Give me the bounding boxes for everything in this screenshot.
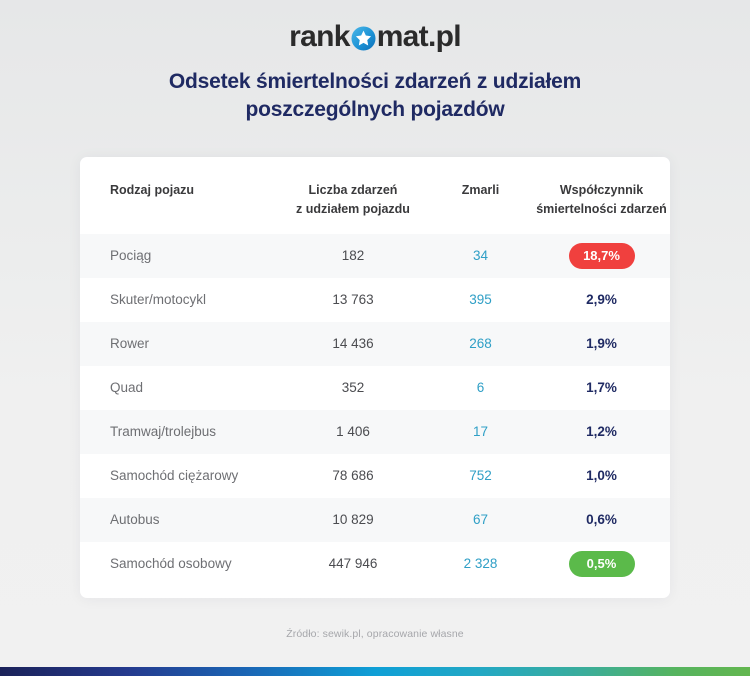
table-row: Rower14 4362681,9% <box>80 322 670 366</box>
cell-incident-count: 78 686 <box>278 469 428 483</box>
table-row: Pociąg1823418,7% <box>80 234 670 278</box>
fatality-rate-value: 1,7% <box>586 380 617 395</box>
cell-deaths: 67 <box>428 513 533 527</box>
cell-fatality-rate: 0,5% <box>533 551 670 577</box>
table-row: Samochód osobowy447 9462 3280,5% <box>80 542 670 586</box>
stats-table-card: Rodzaj pojazu Liczba zdarzeń z udziałem … <box>80 157 670 597</box>
cell-fatality-rate: 1,0% <box>533 467 670 485</box>
cell-incident-count: 10 829 <box>278 513 428 527</box>
cell-deaths: 34 <box>428 249 533 263</box>
brand-logo: rank mat.pl <box>289 20 461 54</box>
logo-text-before: rank <box>289 22 350 52</box>
cell-vehicle-type: Samochód ciężarowy <box>80 469 278 483</box>
cell-deaths: 395 <box>428 293 533 307</box>
fatality-rate-value: 1,0% <box>586 468 617 483</box>
table-row: Samochód ciężarowy78 6867521,0% <box>80 454 670 498</box>
table-row: Quad35261,7% <box>80 366 670 410</box>
cell-deaths: 268 <box>428 337 533 351</box>
infographic-page: rank mat.pl Odsetek śmiertel <box>0 0 750 676</box>
cell-vehicle-type: Quad <box>80 381 278 395</box>
cell-deaths: 2 328 <box>428 557 533 571</box>
cell-vehicle-type: Rower <box>80 337 278 351</box>
column-header-incident-count: Liczba zdarzeń z udziałem pojazdu <box>278 181 428 217</box>
fatality-rate-value: 1,2% <box>586 424 617 439</box>
cell-incident-count: 14 436 <box>278 337 428 351</box>
cell-incident-count: 182 <box>278 249 428 263</box>
table-row: Skuter/motocykl13 7633952,9% <box>80 278 670 322</box>
cell-fatality-rate: 2,9% <box>533 291 670 309</box>
page-title-line-1: Odsetek śmiertelności zdarzeń z udziałem <box>169 70 581 93</box>
fatality-rate-value: 2,9% <box>586 292 617 307</box>
logo-text-after: mat.pl <box>377 22 461 52</box>
fatality-rate-value: 0,6% <box>586 512 617 527</box>
page-title: Odsetek śmiertelności zdarzeń z udziałem… <box>95 68 655 123</box>
table-header-row: Rodzaj pojazu Liczba zdarzeń z udziałem … <box>80 157 670 233</box>
source-note: Źródło: sewik.pl, opracowanie własne <box>286 628 464 640</box>
cell-vehicle-type: Skuter/motocykl <box>80 293 278 307</box>
cell-fatality-rate: 1,2% <box>533 423 670 441</box>
page-title-line-2: poszczególnych pojazdów <box>245 98 504 121</box>
table-row: Tramwaj/trolejbus1 406171,2% <box>80 410 670 454</box>
logo-text: rank mat.pl <box>289 22 461 52</box>
cell-incident-count: 447 946 <box>278 557 428 571</box>
cell-deaths: 752 <box>428 469 533 483</box>
bottom-gradient-bar <box>0 667 750 676</box>
status-badge-highest: 18,7% <box>569 243 635 269</box>
cell-deaths: 17 <box>428 425 533 439</box>
cell-vehicle-type: Autobus <box>80 513 278 527</box>
star-circle-icon <box>351 26 376 51</box>
cell-vehicle-type: Tramwaj/trolejbus <box>80 425 278 439</box>
table-body: Pociąg1823418,7%Skuter/motocykl13 763395… <box>80 234 670 598</box>
cell-fatality-rate: 0,6% <box>533 511 670 529</box>
cell-fatality-rate: 18,7% <box>533 243 670 269</box>
table-row: Autobus10 829670,6% <box>80 498 670 542</box>
column-header-fatality-rate: Współczynnik śmiertelności zdarzeń <box>533 181 670 217</box>
cell-vehicle-type: Samochód osobowy <box>80 557 278 571</box>
column-header-vehicle-type: Rodzaj pojazu <box>80 181 278 199</box>
cell-fatality-rate: 1,9% <box>533 335 670 353</box>
cell-deaths: 6 <box>428 381 533 395</box>
status-badge-lowest: 0,5% <box>569 551 635 577</box>
cell-incident-count: 13 763 <box>278 293 428 307</box>
cell-incident-count: 1 406 <box>278 425 428 439</box>
column-header-deaths: Zmarli <box>428 181 533 199</box>
cell-vehicle-type: Pociąg <box>80 249 278 263</box>
fatality-rate-value: 1,9% <box>586 336 617 351</box>
cell-fatality-rate: 1,7% <box>533 379 670 397</box>
cell-incident-count: 352 <box>278 381 428 395</box>
